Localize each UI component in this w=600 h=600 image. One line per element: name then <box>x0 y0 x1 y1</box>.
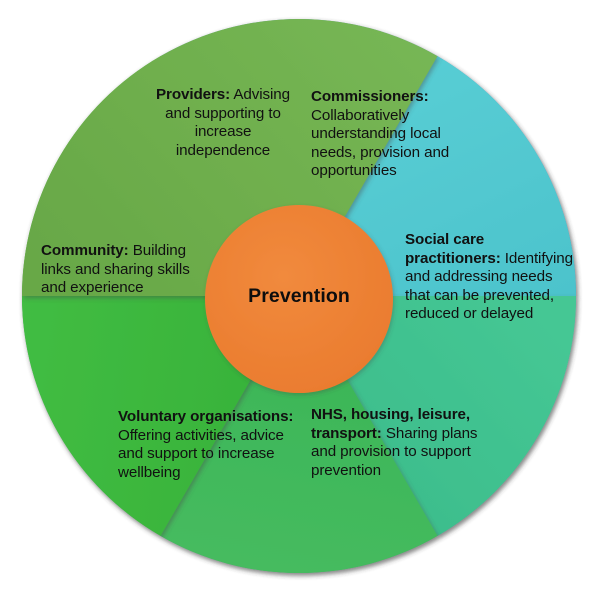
label-community-title: Community: <box>41 242 129 259</box>
center-hub-label: Prevention <box>205 285 393 308</box>
label-providers: Providers: Advising and supporting to in… <box>148 86 298 160</box>
label-nhs-housing-leisure-transport: NHS, housing, leisure, transport: Sharin… <box>311 406 501 480</box>
label-commissioners-body: Collaboratively understanding local need… <box>311 107 449 180</box>
prevention-wheel-diagram: Prevention Providers: Advising and suppo… <box>0 0 600 600</box>
label-voluntary-organisations: Voluntary organisations: Offering activi… <box>118 408 298 482</box>
label-commissioners-title: Commissioners: <box>311 88 429 105</box>
label-commissioners: Commissioners: Collaboratively understan… <box>311 88 486 181</box>
label-voluntary-title: Voluntary organisations: <box>118 408 293 425</box>
label-community: Community: Building links and sharing sk… <box>41 242 201 298</box>
label-social-care-practitioners: Social care practitioners: Identifying a… <box>405 231 575 324</box>
label-social-care-title: Social care practitioners: <box>405 231 501 267</box>
label-providers-title: Providers: <box>156 86 230 103</box>
label-voluntary-body: Offering activities, advice and support … <box>118 427 284 481</box>
